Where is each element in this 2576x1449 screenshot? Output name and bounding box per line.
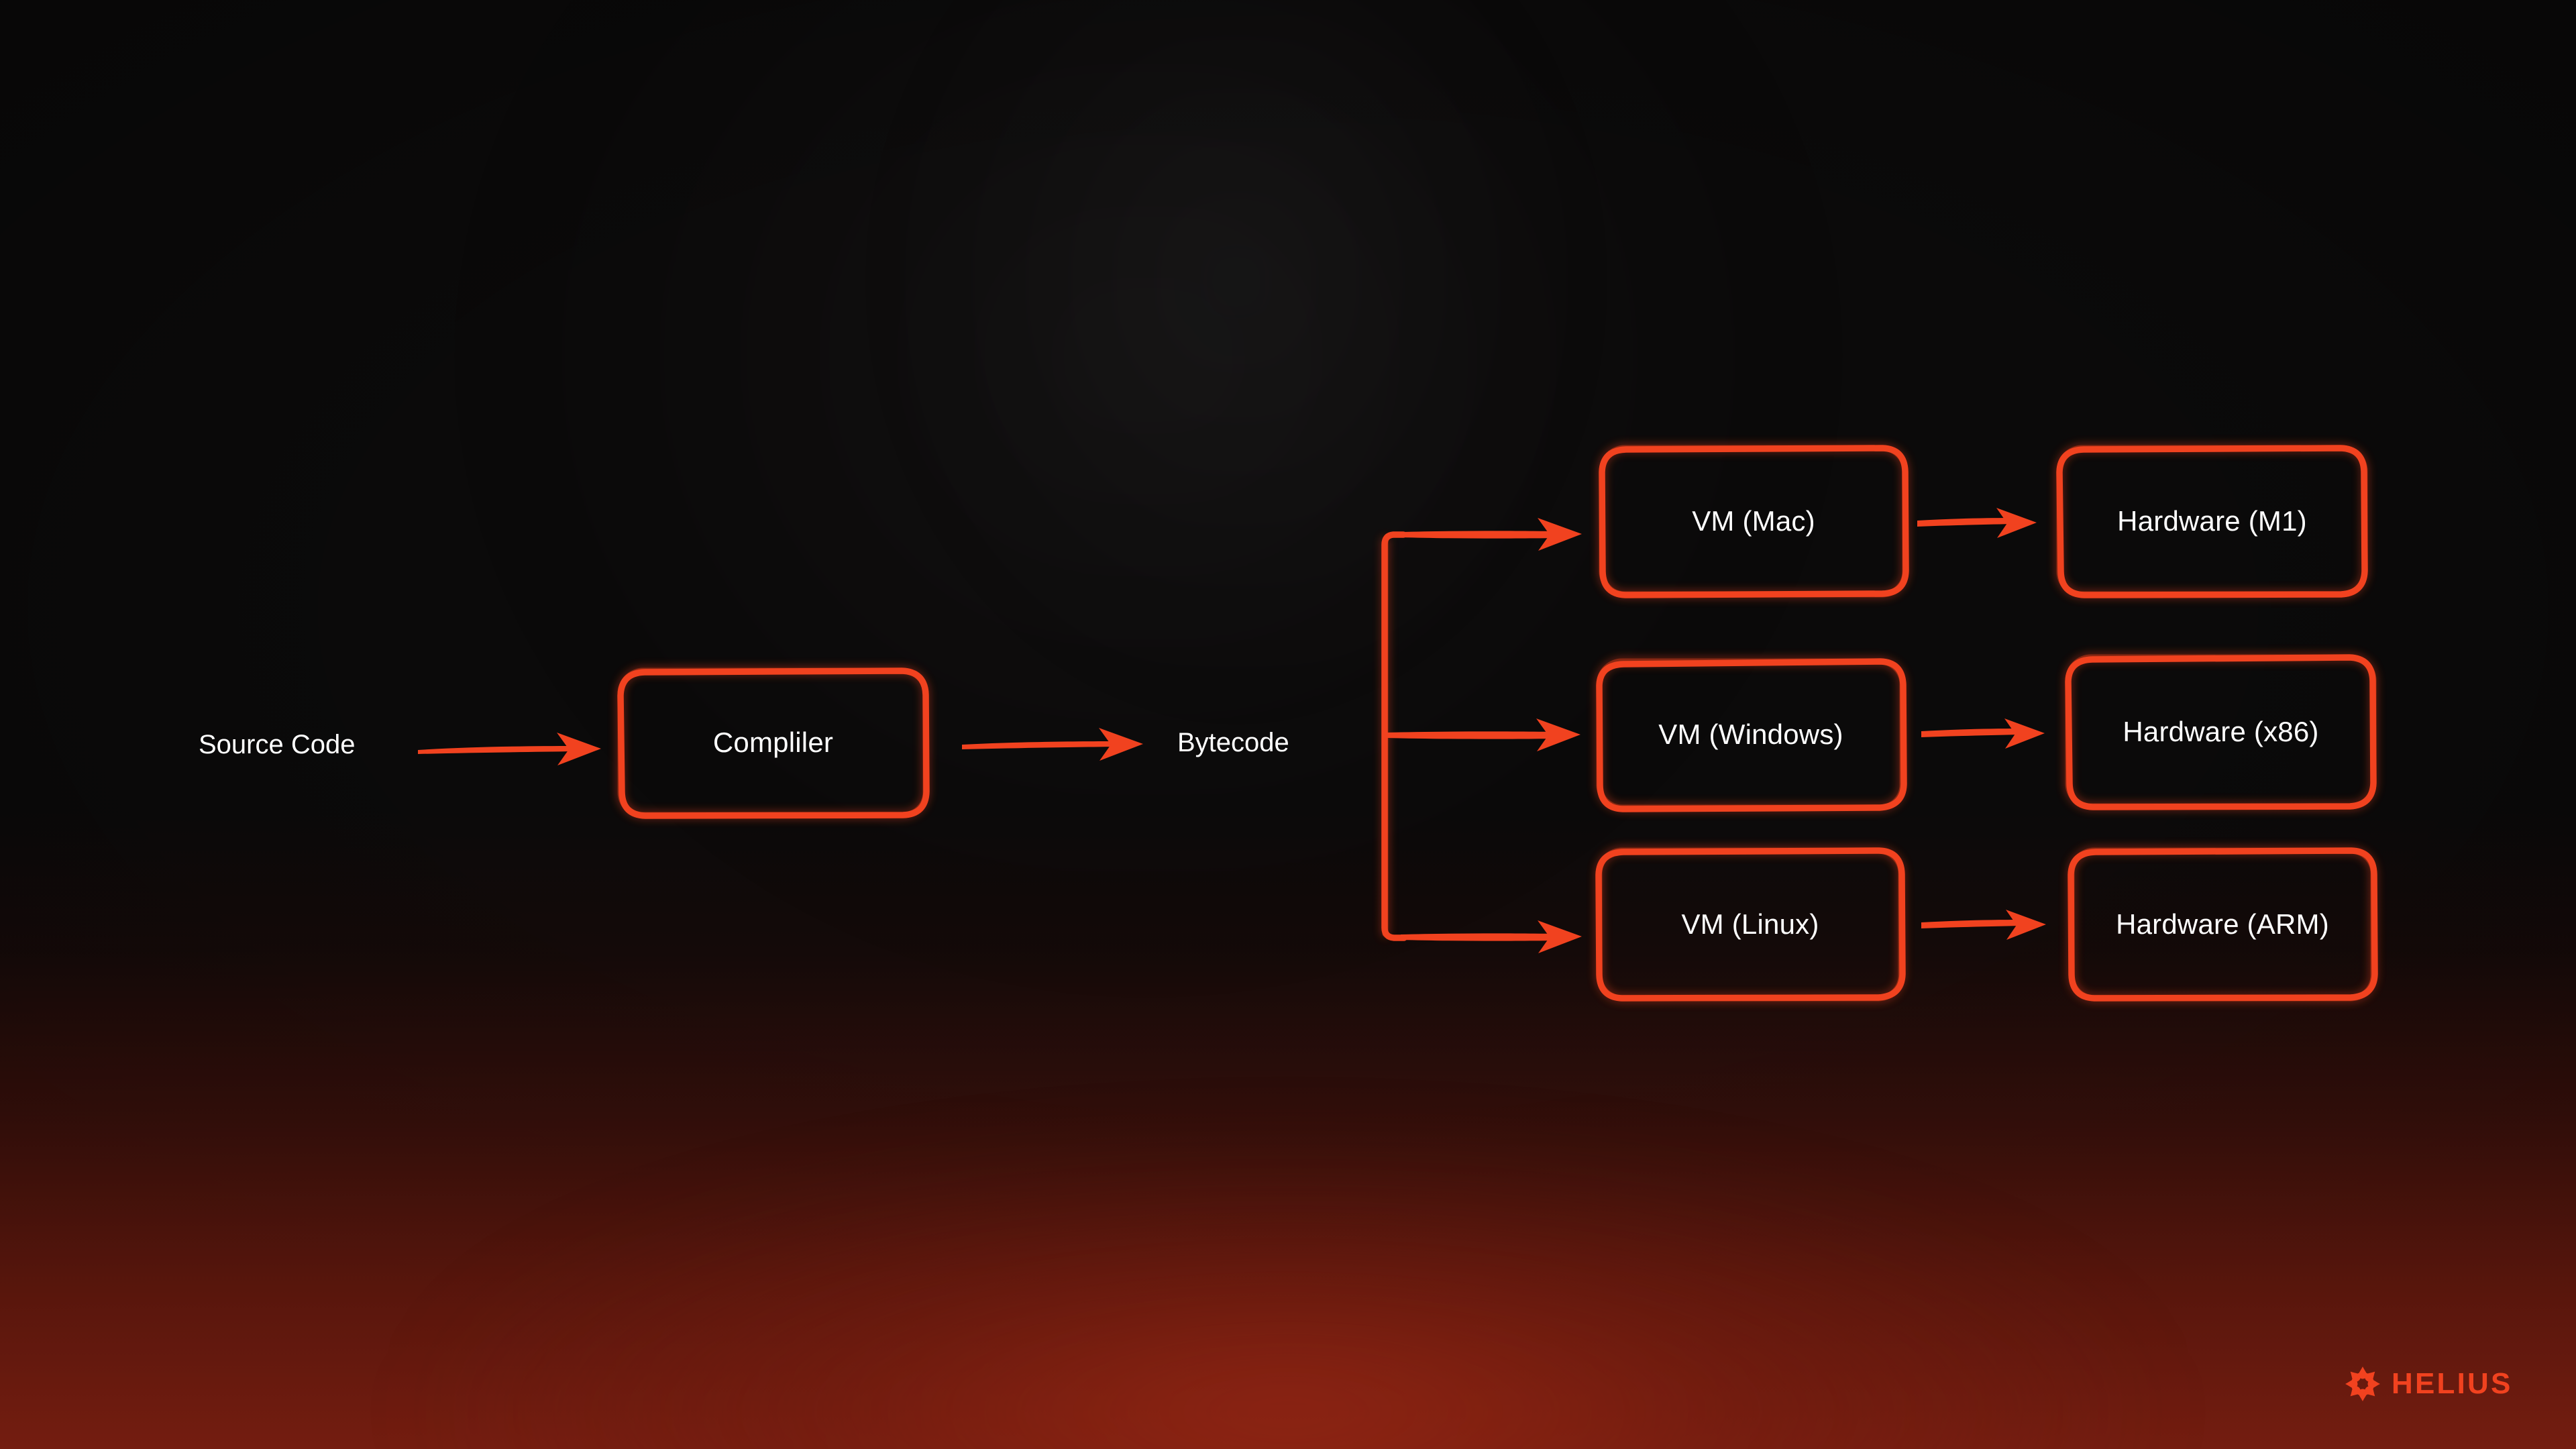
node-label-compiler: Compliler	[713, 727, 833, 758]
brand-wordmark: HELIUS	[2392, 1369, 2513, 1399]
edge-compiler-to-bytecode	[962, 728, 1143, 761]
node-label-vm-linux: VM (Linux)	[1681, 909, 1819, 940]
node-label-vm-mac: VM (Mac)	[1692, 506, 1815, 537]
node-vm-linux[interactable]: VM (Linux)	[1599, 851, 1901, 998]
node-label-hw-m1: Hardware (M1)	[2117, 506, 2307, 537]
node-compiler[interactable]: Compliler	[621, 671, 926, 815]
edge-bytecode-to-vm-mac	[1401, 518, 1582, 551]
flowchart: Source Code Compliler Bytecode VM (Mac) …	[0, 0, 2576, 1449]
node-label-bytecode: Bytecode	[1177, 728, 1289, 758]
node-vm-windows[interactable]: VM (Windows)	[1599, 661, 1902, 808]
node-hw-x86[interactable]: Hardware (x86)	[2068, 657, 2373, 806]
node-vm-mac[interactable]: VM (Mac)	[1602, 448, 1905, 594]
edge-bytecode-branch-trunk	[1385, 535, 1404, 938]
edge-vm-linux-to-hw-arm	[1921, 910, 2046, 940]
node-hw-m1[interactable]: Hardware (M1)	[2059, 448, 2365, 594]
edge-source-code-to-compiler	[418, 733, 601, 765]
sun-burst-icon	[2345, 1366, 2381, 1402]
diagram-canvas: Source Code Compliler Bytecode VM (Mac) …	[0, 0, 2576, 1449]
node-label-hw-arm: Hardware (ARM)	[2116, 909, 2329, 940]
edge-vm-windows-to-hw-x86	[1921, 718, 2045, 749]
node-label-source-code: Source Code	[199, 730, 355, 760]
brand-logo: HELIUS	[2345, 1366, 2513, 1402]
node-label-hw-x86: Hardware (x86)	[2123, 716, 2318, 747]
node-label-vm-windows: VM (Windows)	[1658, 719, 1843, 750]
edge-bytecode-to-vm-linux	[1401, 920, 1582, 953]
node-hw-arm[interactable]: Hardware (ARM)	[2072, 851, 2373, 998]
edge-vm-mac-to-hw-m1	[1917, 508, 2037, 538]
edge-bytecode-to-vm-windows	[1386, 718, 1580, 751]
